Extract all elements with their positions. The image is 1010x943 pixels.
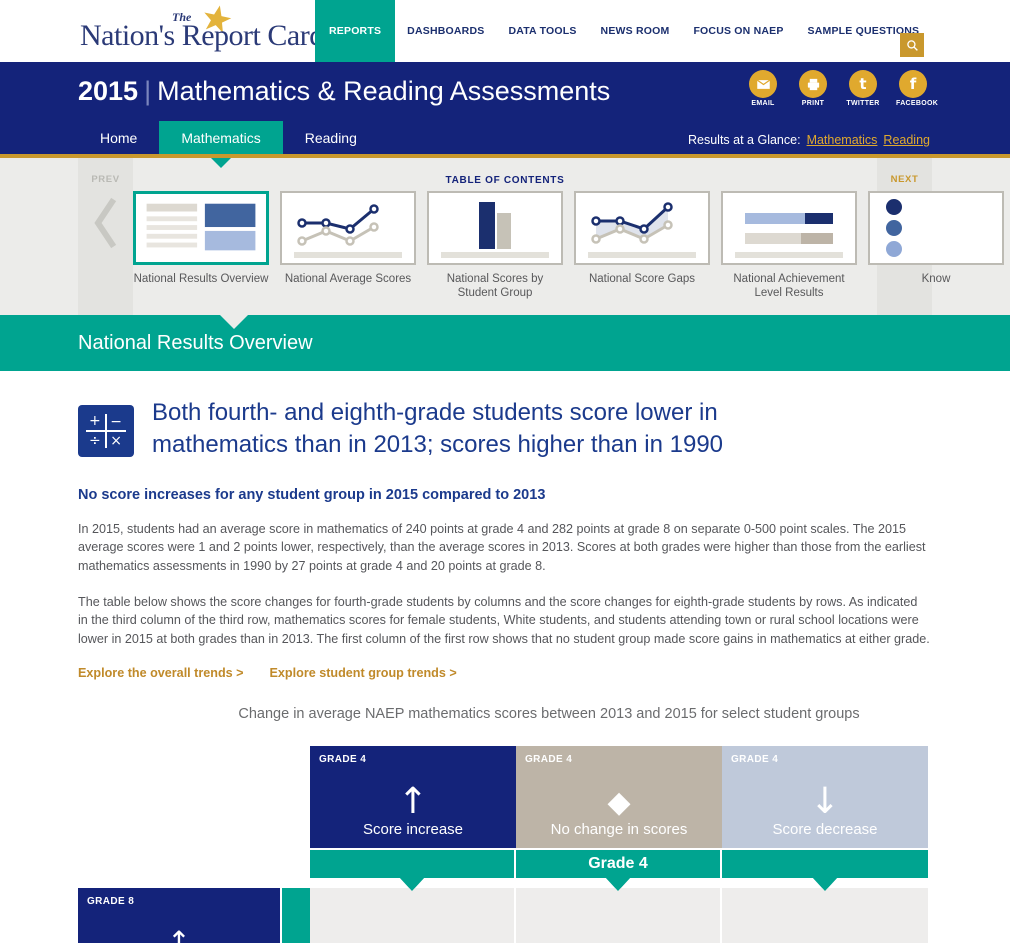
toc-card-knowledge[interactable]: Know (868, 191, 1004, 301)
column-header-label: Score decrease (722, 821, 928, 838)
column-header-no-change[interactable]: GRADE 4 ◆ No change in scores (516, 746, 722, 848)
table-of-contents-label: TABLE OF CONTENTS (0, 175, 1010, 186)
carousel-card-list: National Results Overview Nation (133, 191, 1004, 301)
stacked-bar-thumb-icon (721, 191, 857, 265)
tab-reading[interactable]: Reading (283, 121, 379, 154)
primary-nav: REPORTS DASHBOARDS DATA TOOLS NEWS ROOM … (315, 0, 931, 62)
thumb-caption-bar (441, 252, 549, 258)
grade4-axis-band-segment (310, 850, 514, 878)
page-title: 2015|Mathematics & Reading Assessments (78, 76, 610, 107)
toc-card-national-score-gaps[interactable]: National Score Gaps (574, 191, 710, 301)
carousel-next-label: NEXT (891, 174, 919, 185)
print-icon (799, 70, 827, 98)
row-header-score-increase[interactable]: GRADE 8 ↑ (78, 888, 280, 943)
facebook-icon: f (899, 70, 927, 98)
matrix-cell[interactable] (310, 888, 516, 943)
headline-row: + − ÷ × Both fourth- and eighth-grade st… (78, 397, 930, 461)
explore-student-group-trends-link[interactable]: Explore student group trends > (270, 666, 457, 680)
matrix-cell[interactable] (516, 888, 722, 943)
grade4-axis-label: Grade 4 (516, 850, 720, 878)
site-logo[interactable]: The Nation's Report Card (80, 8, 300, 56)
share-email-button[interactable]: EMAIL (746, 70, 780, 107)
search-icon (906, 39, 919, 52)
nav-item-data-tools[interactable]: DATA TOOLS (496, 0, 588, 62)
nav-item-focus-on-naep[interactable]: FOCUS ON NAEP (681, 0, 795, 62)
section-title: National Results Overview (78, 332, 313, 355)
share-facebook-label: FACEBOOK (896, 100, 930, 107)
row-header-grade-label: GRADE 8 (87, 896, 134, 907)
mathematics-icon: + − ÷ × (78, 405, 134, 457)
table-of-contents-carousel: TABLE OF CONTENTS PREV NEXT (0, 158, 1010, 315)
email-icon (749, 70, 777, 98)
glance-link-mathematics[interactable]: Mathematics (807, 133, 878, 147)
column-header-score-increase[interactable]: GRADE 4 ↑ Score increase (310, 746, 516, 848)
matrix-cell[interactable] (722, 888, 928, 943)
share-facebook-button[interactable]: f FACEBOOK (896, 70, 930, 107)
grade8-axis-band-segment (282, 888, 310, 943)
diamond-icon: ◆ (516, 788, 722, 818)
glance-link-reading[interactable]: Reading (883, 133, 930, 147)
toc-card-label: National Achievement Level Results (721, 272, 857, 301)
toc-card-national-average-scores[interactable]: National Average Scores (280, 191, 416, 301)
search-button[interactable] (900, 33, 924, 57)
thumb-caption-bar (588, 252, 696, 258)
explore-links: Explore the overall trends > Explore stu… (78, 666, 930, 680)
column-header-grade-label: GRADE 4 (525, 754, 572, 765)
share-print-label: PRINT (796, 100, 830, 107)
grade4-axis-label-text: Grade 4 (588, 855, 648, 873)
share-email-label: EMAIL (746, 100, 780, 107)
content-paragraph-1: In 2015, students had an average score i… (78, 520, 930, 576)
toc-card-label: National Scores by Student Group (427, 272, 563, 301)
toc-card-national-achievement-level-results[interactable]: National Achievement Level Results (721, 191, 857, 301)
nav-item-news-room[interactable]: NEWS ROOM (589, 0, 682, 62)
document-thumb-icon (133, 191, 269, 265)
section-header-bar: National Results Overview (0, 315, 1010, 371)
content-subheadline: No score increases for any student group… (78, 487, 930, 503)
carousel-prev-button[interactable]: PREV (78, 158, 133, 315)
tab-mathematics[interactable]: Mathematics (159, 121, 282, 154)
column-header-label: Score increase (310, 821, 516, 838)
carousel-prev-label: PREV (91, 174, 119, 185)
toc-card-label: National Score Gaps (574, 272, 710, 286)
toc-card-label: Know (868, 272, 1004, 286)
area-chart-thumb-icon (574, 191, 710, 265)
bar-chart-thumb-icon (427, 191, 563, 265)
top-navigation-bar: The Nation's Report Card REPORTS DASHBOA… (0, 0, 1010, 62)
column-header-grade-label: GRADE 4 (731, 754, 778, 765)
toc-card-national-scores-by-student-group[interactable]: National Scores by Student Group (427, 191, 563, 301)
thumb-caption-bar (735, 252, 843, 258)
main-content: + − ÷ × Both fourth- and eighth-grade st… (0, 371, 1010, 936)
assessment-year: 2015 (78, 76, 138, 106)
axis-tick-down-icon (813, 878, 837, 891)
share-twitter-label: TWITTER (846, 100, 880, 107)
chevron-left-icon (93, 197, 119, 249)
chart-title: Change in average NAEP mathematics score… (78, 706, 930, 722)
share-twitter-button[interactable]: t TWITTER (846, 70, 880, 107)
assessment-header: 2015|Mathematics & Reading Assessments E… (0, 62, 1010, 158)
axis-tick-down-icon (400, 878, 424, 891)
nav-item-dashboards[interactable]: DASHBOARDS (395, 0, 496, 62)
thumb-caption-bar (294, 252, 402, 258)
column-header-score-decrease[interactable]: GRADE 4 ↓ Score decrease (722, 746, 928, 848)
arrow-up-icon: ↑ (78, 928, 280, 943)
arrow-down-icon: ↓ (722, 784, 928, 820)
arrow-up-icon: ↑ (310, 784, 516, 820)
axis-tick-down-icon (606, 878, 630, 891)
dots-thumb-icon (868, 191, 1004, 265)
social-share-group: EMAIL PRINT t TWITTER f FACEBOOK (746, 70, 930, 107)
subject-tabs: Home Mathematics Reading (78, 121, 379, 154)
content-paragraph-2: The table below shows the score changes … (78, 593, 930, 649)
title-separator: | (138, 76, 157, 106)
results-at-a-glance-label: Results at a Glance: (688, 133, 801, 147)
share-print-button[interactable]: PRINT (796, 70, 830, 107)
results-at-a-glance: Results at a Glance:MathematicsReading (688, 133, 930, 147)
logo-main-text: Nation's Report Card (80, 19, 324, 53)
explore-overall-trends-link[interactable]: Explore the overall trends > (78, 666, 244, 680)
toc-card-national-results-overview[interactable]: National Results Overview (133, 191, 269, 301)
content-headline: Both fourth- and eighth-grade students s… (152, 397, 852, 461)
grade4-axis-band-segment (722, 850, 928, 878)
tab-home[interactable]: Home (78, 121, 159, 154)
line-chart-thumb-icon (280, 191, 416, 265)
toc-card-label: National Results Overview (133, 272, 269, 286)
score-change-matrix: Change in average NAEP mathematics score… (78, 706, 930, 936)
column-header-grade-label: GRADE 4 (319, 754, 366, 765)
assessment-title: Mathematics & Reading Assessments (157, 76, 610, 106)
toc-card-label: National Average Scores (280, 272, 416, 286)
matrix-grid: GRADE 4 ↑ Score increase GRADE 4 ◆ No ch… (78, 746, 930, 936)
twitter-icon: t (849, 70, 877, 98)
nav-item-reports[interactable]: REPORTS (315, 0, 395, 62)
column-header-label: No change in scores (516, 821, 722, 838)
